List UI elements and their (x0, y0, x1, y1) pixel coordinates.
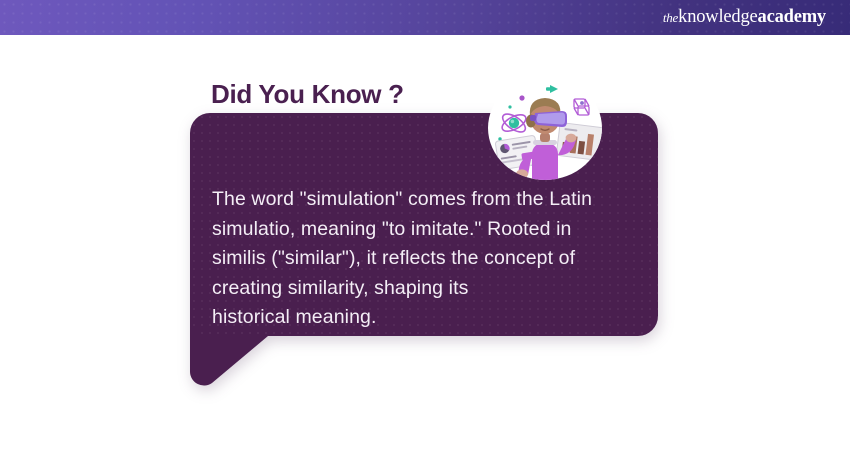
fact-text-line: creating similarity, shaping its (212, 274, 648, 304)
header-bar: theknowledgeacademy (0, 0, 850, 35)
atom-icon (500, 111, 529, 136)
avatar-hand-right (566, 134, 577, 143)
slide-canvas: theknowledgeacademy Did You Know ? The w… (0, 0, 850, 450)
vr-headset-strap (530, 115, 536, 121)
vr-user-illustration (488, 76, 602, 180)
brand-logo-the: the (663, 10, 678, 25)
vr-headset-lens (537, 113, 566, 125)
cursor-arrow-icon (546, 85, 558, 93)
speck-icon (519, 95, 524, 100)
brand-logo[interactable]: theknowledgeacademy (663, 7, 826, 28)
avatar-torso (532, 142, 558, 180)
speck-icon (580, 101, 584, 105)
fact-text-line: simulatio, meaning "to imitate." Rooted … (212, 215, 648, 245)
page-title: Did You Know ? (211, 79, 404, 110)
fact-text-line: The word "simulation" comes from the Lat… (212, 185, 648, 215)
fact-text: The word "simulation" comes from the Lat… (212, 185, 648, 333)
fact-text-line: historical meaning. (212, 303, 648, 333)
brand-logo-academy: academy (758, 7, 826, 27)
fact-text-line: similis ("similar"), it reflects the con… (212, 244, 648, 274)
avatar (488, 76, 602, 180)
speck-icon (508, 105, 511, 108)
avatar-neck (540, 133, 550, 142)
brand-logo-knowledge: knowledge (678, 7, 757, 27)
